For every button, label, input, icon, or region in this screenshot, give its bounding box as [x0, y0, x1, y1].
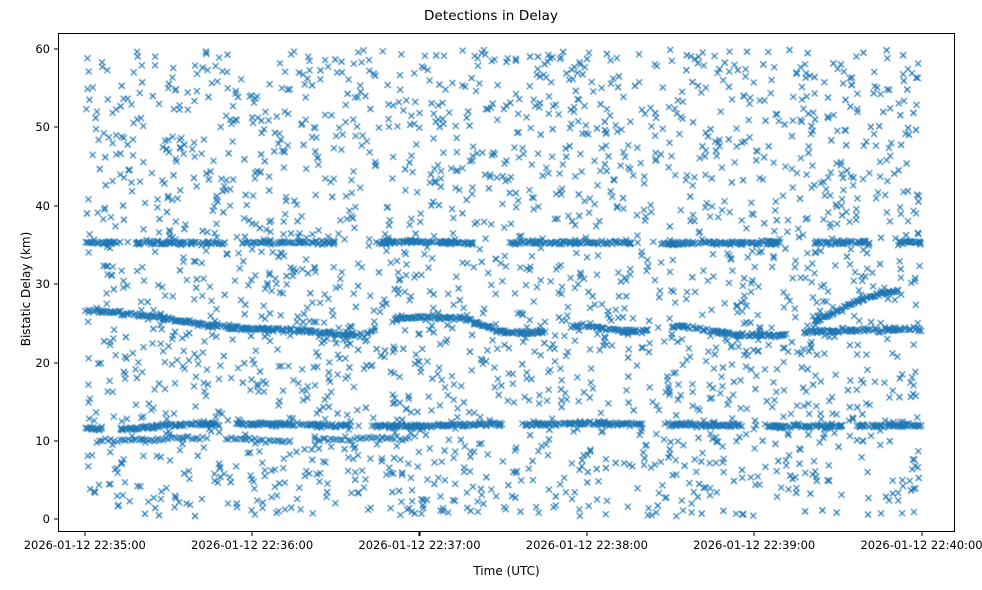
x-tick-mark: [754, 532, 755, 536]
x-axis-label: Time (UTC): [58, 564, 955, 578]
plot-area[interactable]: [58, 33, 955, 532]
page-title: Detections in Delay: [0, 8, 982, 24]
y-tick-label: 50: [8, 120, 50, 134]
y-tick-label: 40: [8, 199, 50, 213]
x-tick-label: 2026-01-12 22:39:00: [693, 538, 815, 552]
x-tick-mark: [419, 532, 420, 536]
x-tick-label: 2026-01-12 22:40:00: [860, 538, 982, 552]
x-tick-mark: [586, 532, 587, 536]
x-tick-mark: [252, 532, 253, 536]
x-tick-label: 2026-01-12 22:37:00: [358, 538, 480, 552]
x-tick-label: 2026-01-12 22:35:00: [24, 538, 146, 552]
y-tick-label: 30: [8, 277, 50, 291]
matplotlib-figure: Detections in Delay Bistatic Delay (km) …: [0, 0, 982, 590]
y-tick-label: 20: [8, 356, 50, 370]
y-tick-label: 0: [8, 512, 50, 526]
x-tick-mark: [84, 532, 85, 536]
x-tick-label: 2026-01-12 22:36:00: [191, 538, 313, 552]
x-tick-mark: [921, 532, 922, 536]
y-tick-label: 60: [8, 42, 50, 56]
x-tick-label: 2026-01-12 22:38:00: [526, 538, 648, 552]
y-tick-label: 10: [8, 434, 50, 448]
scatter-plot-canvas: [59, 34, 954, 531]
